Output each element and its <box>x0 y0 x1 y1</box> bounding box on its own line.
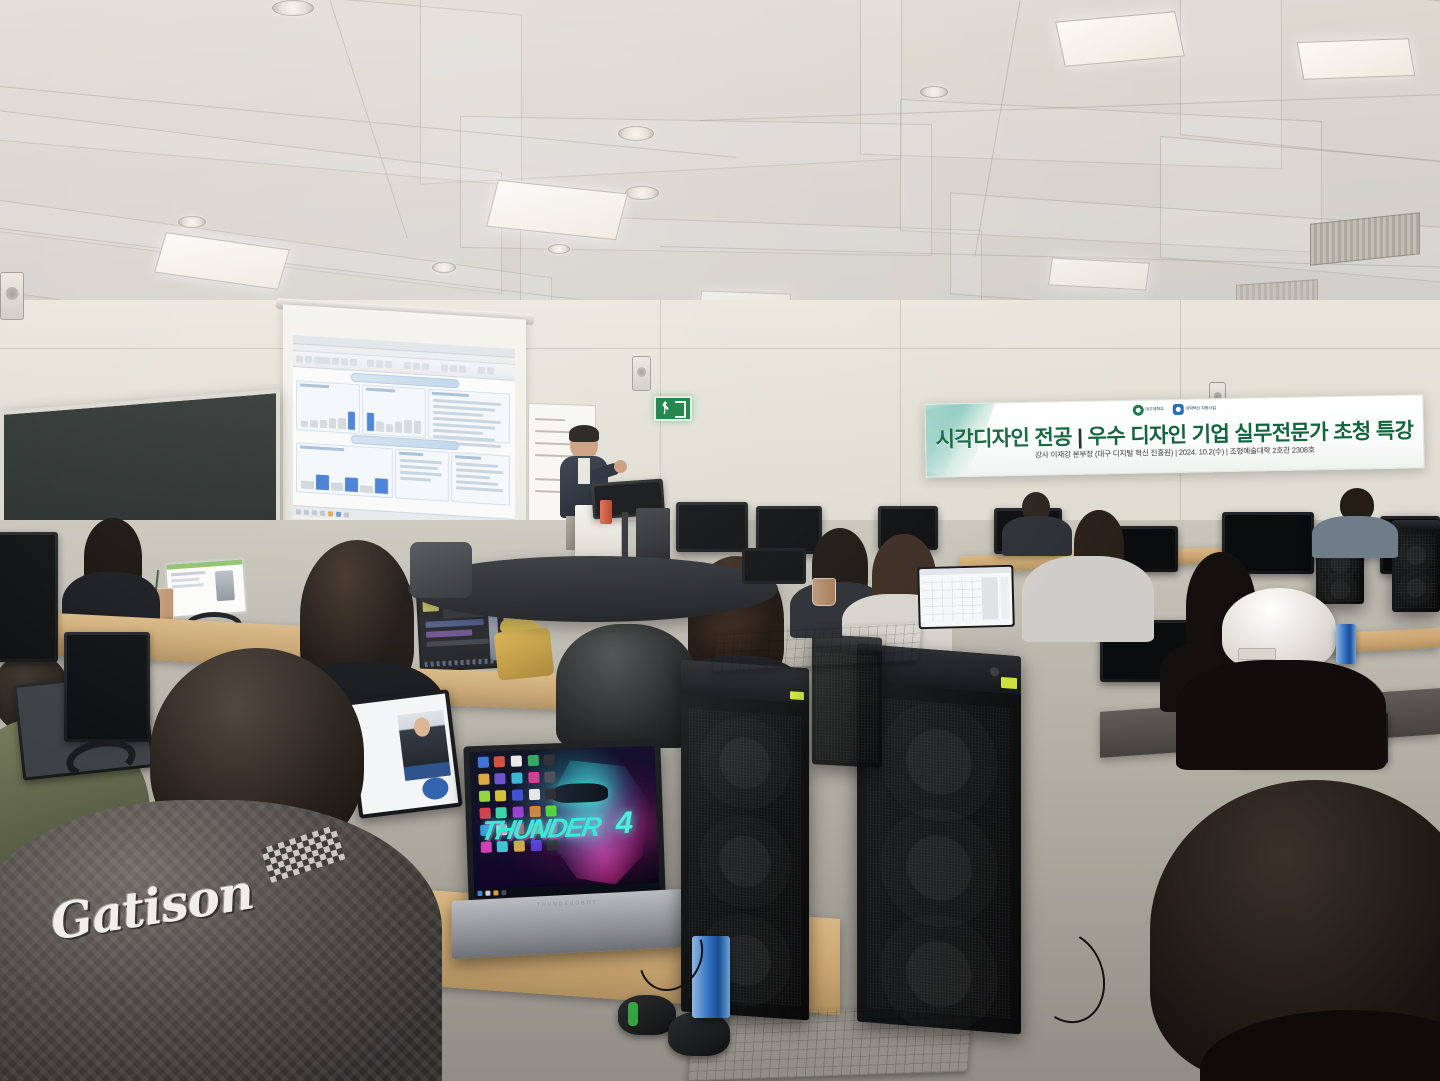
monitor-back-1 <box>676 502 748 552</box>
mouse-green-accent <box>628 1002 638 1026</box>
daegu-university-logo: 대구대학교 <box>1132 404 1163 416</box>
student-body-5 <box>1022 556 1154 642</box>
slide-chart-box-1 <box>296 380 360 434</box>
ceiling-downlight <box>432 262 456 273</box>
banner-title-part1: 시각디자인 전공 <box>935 426 1072 452</box>
ceiling-downlight <box>625 186 659 200</box>
asset-sticker <box>790 691 804 700</box>
tower-back-right-2 <box>1392 520 1440 612</box>
university-innovation-logo-text: 대학혁신 지원사업 <box>1185 406 1215 411</box>
ceiling-downlight <box>618 126 654 141</box>
ceiling-downlight <box>548 244 570 254</box>
laptop-icon-grid-app[interactable] <box>917 565 1015 629</box>
classroom-photo: 대구대학교 대학혁신 지원사업 시각디자인 전공 | 우수 디자인 기업 실무전… <box>0 0 1440 1081</box>
presenter-hand <box>614 460 627 473</box>
emergency-exit-icon <box>654 396 692 421</box>
monitor-back-2 <box>756 506 822 554</box>
student-body-2 <box>1312 516 1398 558</box>
wall-speaker-left <box>0 272 24 320</box>
thunderobot-wallpaper-badge: 4 <box>615 805 633 842</box>
monitor-left-edge <box>0 532 58 662</box>
thunderobot-screen[interactable]: THUNDER 4 <box>463 740 665 905</box>
wall-speaker-mid <box>632 356 651 391</box>
character-visor-icon <box>552 783 608 804</box>
mouse-black[interactable] <box>668 1012 730 1056</box>
laptop-thunderobot[interactable]: THUNDER 4 THUNDEROBOT <box>463 740 665 905</box>
power-button[interactable] <box>990 667 999 677</box>
laptop-left-student[interactable] <box>164 557 248 618</box>
cap-strap <box>1238 648 1276 660</box>
laptop-on-round-table[interactable] <box>742 548 806 584</box>
student-body-7 <box>1176 660 1386 770</box>
ceiling-downlight <box>178 216 206 228</box>
presenter-hair <box>569 425 599 442</box>
presenter-shirt <box>578 458 590 484</box>
banner-title-separator: | <box>1077 426 1083 449</box>
beverage-can-right <box>1336 624 1356 664</box>
ceiling-downlight <box>920 86 948 98</box>
student-hooded-mid <box>556 624 698 748</box>
slide-bullets-box-1 <box>428 389 510 444</box>
thunderobot-wallpaper-logo: THUNDER <box>479 812 602 847</box>
chair-back <box>410 542 472 598</box>
can-on-podium <box>600 500 612 524</box>
event-banner: 대구대학교 대학혁신 지원사업 시각디자인 전공 | 우수 디자인 기업 실무전… <box>924 394 1424 478</box>
jacket-embroidered-text: Gatison <box>47 862 257 951</box>
student-body-1 <box>1002 516 1072 556</box>
ceiling-downlight <box>272 0 314 16</box>
daegu-university-logo-text: 대구대학교 <box>1145 407 1163 412</box>
banner-logos: 대구대학교 대학혁신 지원사업 <box>1132 403 1216 416</box>
slide-text-box-1 <box>395 448 449 501</box>
cup-on-round-table <box>812 578 836 606</box>
slide-bullets-box-2 <box>451 452 510 506</box>
slide-canvas <box>293 367 515 519</box>
monitor-left-edge-2 <box>64 632 150 742</box>
university-innovation-logo: 대학혁신 지원사업 <box>1172 403 1215 415</box>
yellow-pouch <box>494 627 555 681</box>
projected-slide <box>293 335 515 532</box>
jacket-checker-patch <box>260 825 345 883</box>
slide-chart-box-3 <box>296 442 393 498</box>
slide-chart-box-2 <box>362 384 426 438</box>
ceiling-led-panel <box>1048 258 1150 291</box>
asset-sticker <box>1001 677 1017 689</box>
foreground-person-jacket: Gatison <box>0 800 442 1081</box>
ceiling-led-panel <box>1297 38 1416 80</box>
